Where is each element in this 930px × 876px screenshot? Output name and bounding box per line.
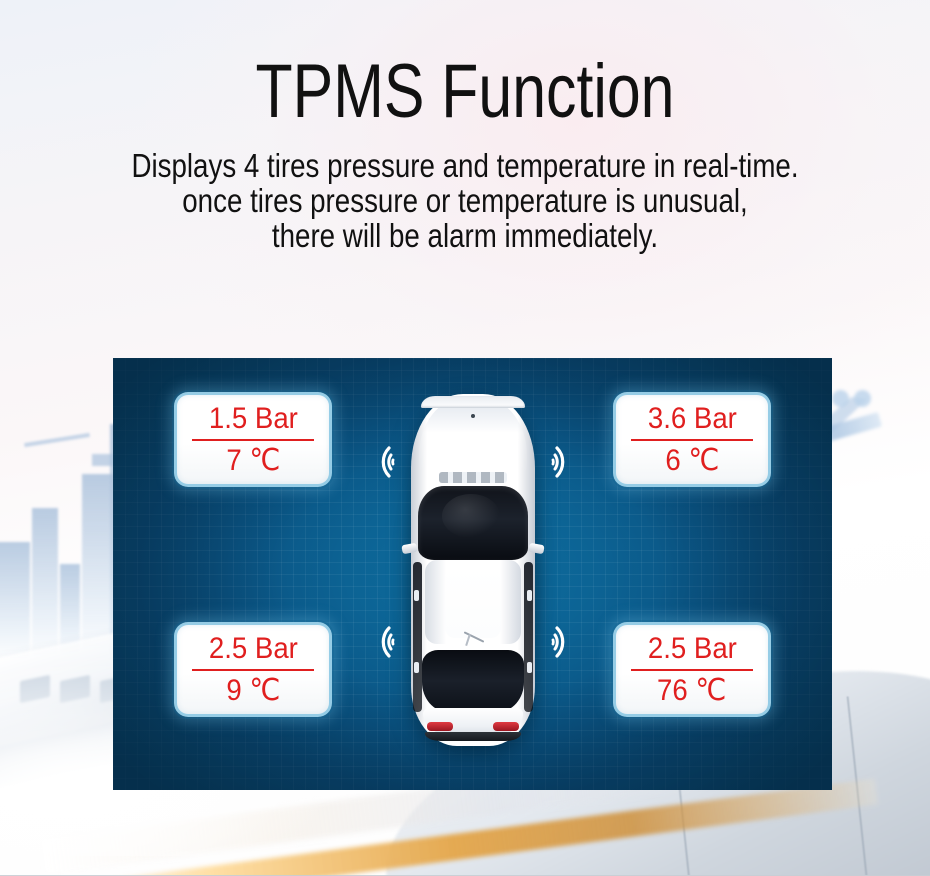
page-root: TPMS Function Displays 4 tires pressure … bbox=[0, 0, 930, 876]
signal-wave-icon-rear-left bbox=[359, 616, 395, 668]
signal-wave-icon-front-left bbox=[359, 436, 395, 488]
tire-pressure-value: 2.5 Bar bbox=[208, 632, 297, 666]
tire-pressure-value: 3.6 Bar bbox=[647, 402, 736, 436]
subtitle-line-1: Displays 4 tires pressure and temperatur… bbox=[74, 148, 855, 183]
tire-temperature-value: 9 ℃ bbox=[226, 674, 280, 708]
tire-temperature-value: 6 ℃ bbox=[665, 444, 719, 478]
tire-pressure-value: 2.5 Bar bbox=[647, 632, 736, 666]
readout-divider bbox=[631, 669, 753, 671]
car-top-view-icon bbox=[411, 394, 535, 746]
tire-pressure-value: 1.5 Bar bbox=[208, 402, 297, 436]
subtitle-line-3: there will be alarm immediately. bbox=[74, 218, 855, 253]
readout-divider bbox=[192, 439, 314, 441]
tire-readout-rear-left[interactable]: 2.5 Bar 9 ℃ bbox=[174, 622, 332, 717]
tire-readout-front-left[interactable]: 1.5 Bar 7 ℃ bbox=[174, 392, 332, 487]
readout-divider bbox=[192, 669, 314, 671]
page-subtitle: Displays 4 tires pressure and temperatur… bbox=[74, 148, 855, 253]
signal-wave-icon-front-right bbox=[551, 436, 587, 488]
tire-readout-rear-right[interactable]: 2.5 Bar 76 ℃ bbox=[613, 622, 771, 717]
signal-wave-icon-rear-right bbox=[551, 616, 587, 668]
readout-divider bbox=[631, 439, 753, 441]
tpms-panel: 1.5 Bar 7 ℃ 3.6 Bar 6 ℃ 2.5 Bar 9 ℃ 2.5 … bbox=[113, 358, 832, 790]
tire-temperature-value: 76 ℃ bbox=[657, 674, 726, 708]
page-title: TPMS Function bbox=[93, 52, 837, 132]
header: TPMS Function Displays 4 tires pressure … bbox=[0, 0, 930, 253]
vehicle-diagram bbox=[353, 394, 593, 754]
subtitle-line-2: once tires pressure or temperature is un… bbox=[74, 183, 855, 218]
tire-temperature-value: 7 ℃ bbox=[226, 444, 280, 478]
tire-readout-front-right[interactable]: 3.6 Bar 6 ℃ bbox=[613, 392, 771, 487]
